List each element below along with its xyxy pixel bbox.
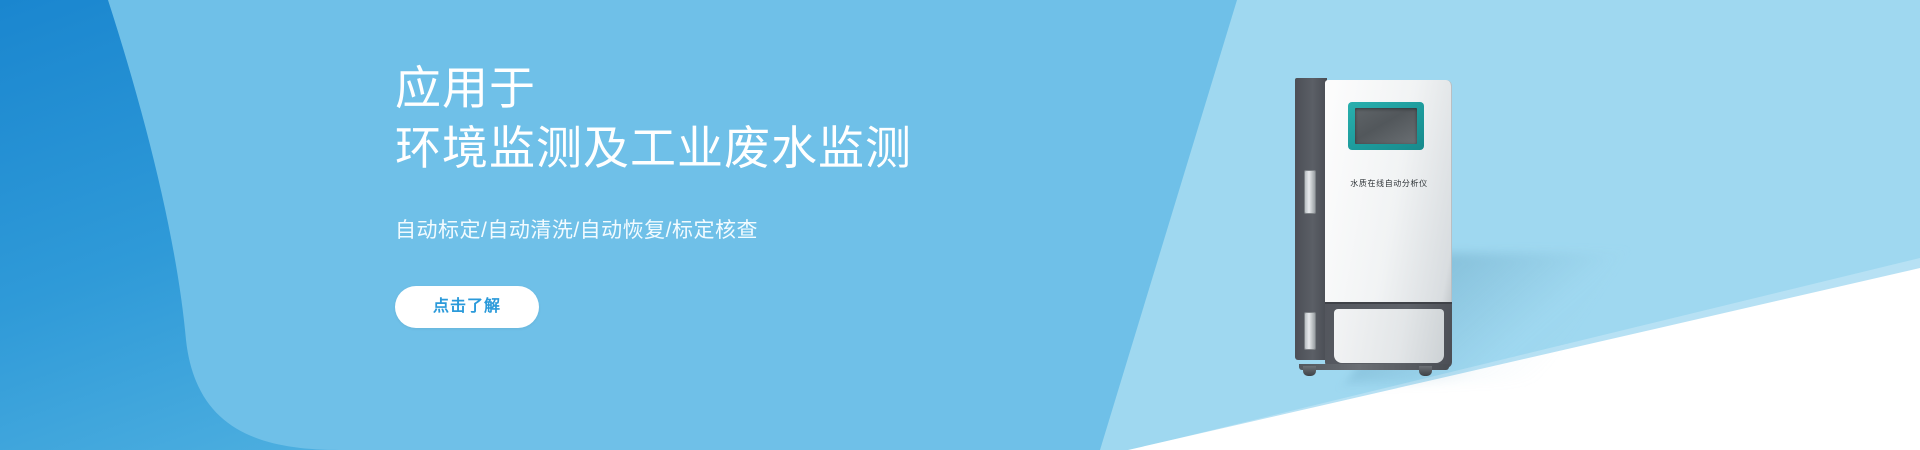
- learn-more-button[interactable]: 点击了解: [395, 286, 539, 328]
- headline-line-2: 环境监测及工业废水监测: [395, 118, 1155, 178]
- product-label-text: 水质在线自动分析仪: [1331, 178, 1447, 189]
- hero-subheadline: 自动标定/自动清洗/自动恢复/标定核查: [395, 216, 1155, 246]
- hero-banner: 应用于 环境监测及工业废水监测 自动标定/自动清洗/自动恢复/标定核查 点击了解…: [0, 0, 1920, 450]
- cabinet-display-bezel: [1348, 102, 1424, 150]
- cabinet-upper-handle: [1304, 170, 1316, 214]
- product-image-water-quality-analyzer: 水质在线自动分析仪: [1295, 78, 1455, 378]
- product-cabinet: 水质在线自动分析仪: [1295, 78, 1455, 378]
- cabinet-lower-handle: [1304, 312, 1316, 350]
- caster-wheel-right: [1419, 366, 1432, 379]
- hero-content: 应用于 环境监测及工业废水监测 自动标定/自动清洗/自动恢复/标定核查 点击了解: [395, 58, 1155, 328]
- caster-wheel-left: [1303, 366, 1316, 379]
- cabinet-display-screen: [1355, 108, 1417, 144]
- cabinet-lower-drawer: [1334, 309, 1444, 363]
- headline-line-1: 应用于: [395, 58, 1155, 118]
